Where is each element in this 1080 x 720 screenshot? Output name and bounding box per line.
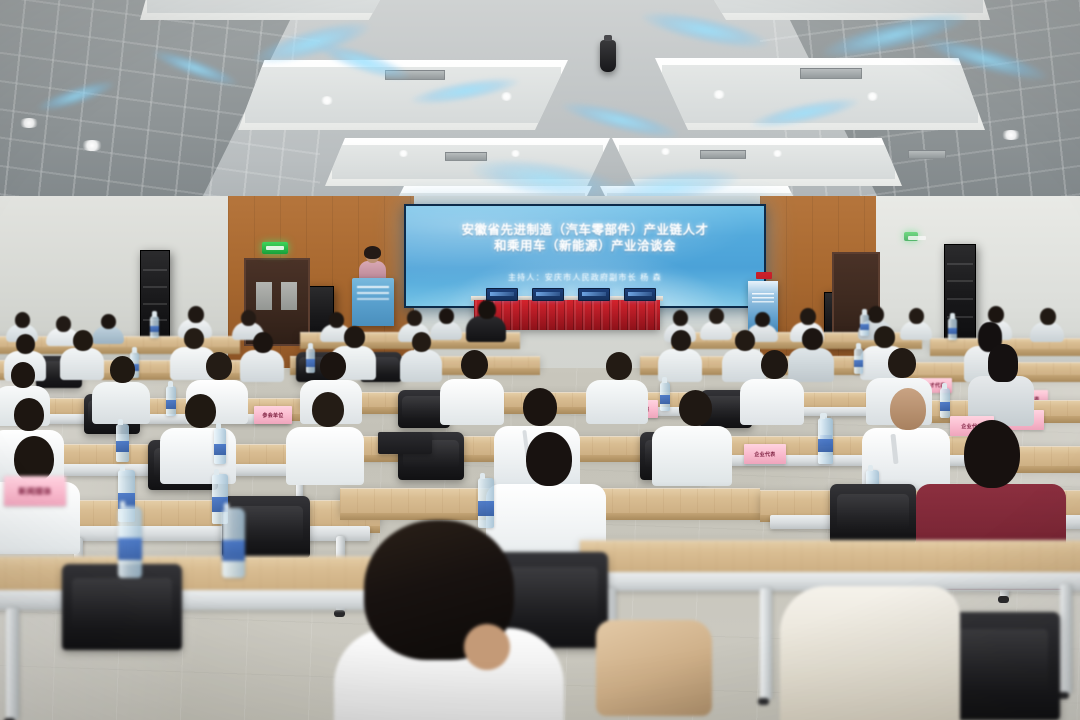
attendee-woman-hijab <box>968 344 1034 422</box>
downlight <box>500 92 513 101</box>
downlight <box>866 92 879 101</box>
ceiling <box>0 0 1080 222</box>
downlight <box>660 148 671 155</box>
screen-title: 安徽省先进制造（汽车零部件）产业链人才 和乘用车（新能源）产业洽谈会 <box>406 222 764 254</box>
water-bottle <box>116 424 129 462</box>
attendee <box>286 392 364 478</box>
laptop[interactable] <box>378 432 432 454</box>
attendee <box>740 350 804 420</box>
downlight <box>510 150 521 157</box>
water-bottle <box>222 508 245 578</box>
downlight <box>772 150 783 157</box>
exit-sign-icon <box>262 242 288 254</box>
podium <box>352 278 394 326</box>
screen-title-line1: 安徽省先进制造（汽车零部件）产业链人才 <box>414 222 756 238</box>
attendee <box>92 356 150 420</box>
head-table-monitor <box>578 288 610 301</box>
attendee <box>1030 308 1064 340</box>
table-row <box>580 540 1080 573</box>
head-table-monitor <box>532 288 564 301</box>
attendee <box>652 390 732 480</box>
water-bottle <box>854 348 863 374</box>
conference-hall-photo: 安徽省先进制造（汽车零部件）产业链人才 和乘用车（新能源）产业洽谈会 主持人：安… <box>0 0 1080 720</box>
presenter-hair <box>364 246 381 259</box>
attendee-right-foreground <box>780 586 960 720</box>
water-bottle <box>118 506 142 578</box>
downlight <box>320 96 334 105</box>
water-bottle <box>948 318 957 340</box>
water-bottle <box>818 418 833 464</box>
table-leg <box>6 608 19 720</box>
ceiling-vent <box>700 150 746 159</box>
ceiling-projector <box>600 40 616 72</box>
table-leg <box>1060 584 1072 694</box>
name-card: 企业代表 <box>744 444 786 464</box>
attendee <box>658 330 702 378</box>
downlight <box>80 140 104 151</box>
handbag <box>596 620 712 716</box>
water-bottle <box>150 316 159 338</box>
downlight <box>1000 130 1022 140</box>
head-table-monitor <box>624 288 656 301</box>
downlight <box>712 90 726 99</box>
chair[interactable] <box>830 484 916 544</box>
ceiling-vent <box>800 68 862 79</box>
ceiling-vent <box>445 152 487 161</box>
banner-header <box>756 272 772 279</box>
downlight <box>18 118 40 128</box>
attendee <box>586 352 648 420</box>
attendee <box>400 332 442 378</box>
table-leg <box>760 588 772 700</box>
screen-title-line2: 和乘用车（新能源）产业洽谈会 <box>414 238 756 254</box>
attendee <box>466 300 506 340</box>
ceiling-vent <box>908 150 946 159</box>
light-streak <box>559 96 680 144</box>
name-card: 新闻媒体 <box>4 476 66 506</box>
foreground-woman <box>334 520 564 720</box>
ceiling-coffer <box>140 0 400 20</box>
water-bottle <box>214 428 226 464</box>
exit-sign-icon <box>904 232 918 241</box>
downlight <box>398 150 409 157</box>
